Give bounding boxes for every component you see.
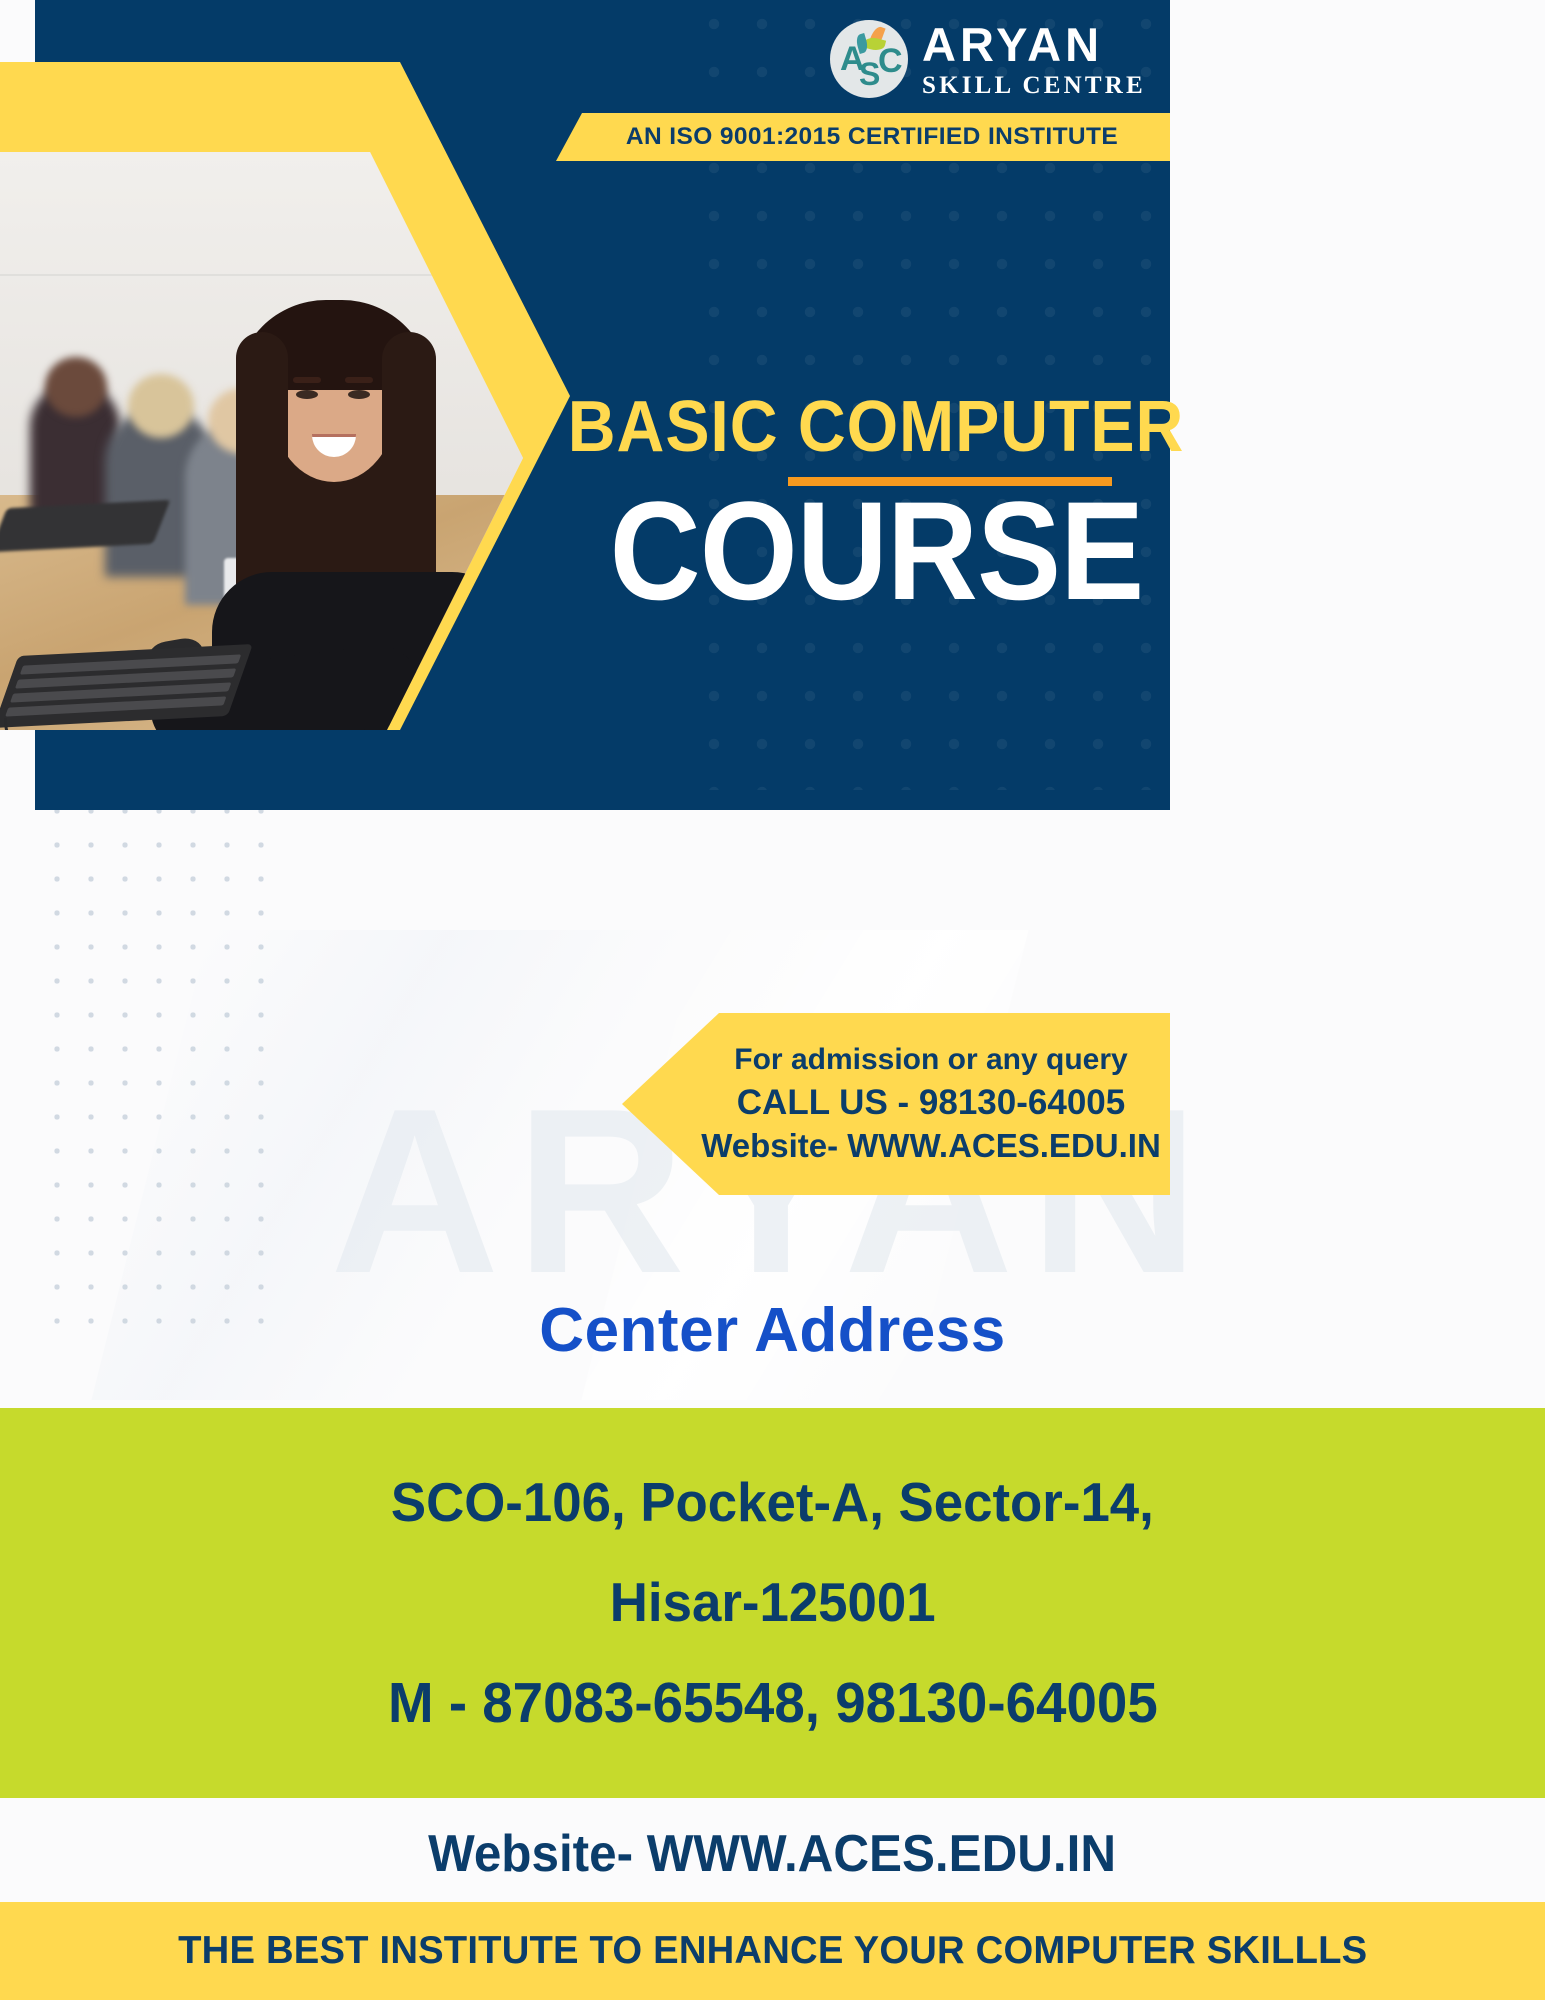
tagline-strip: THE BEST INSTITUTE TO ENHANCE YOUR COMPU… [0,1902,1545,2000]
photo-woman-brow-right [345,377,373,383]
photo-keyboard-front [0,644,253,728]
contact-phone-line[interactable]: CALL US - 98130-64005 [737,1083,1125,1123]
iso-certification-banner: AN ISO 9001:2015 CERTIFIED INSTITUTE [556,113,1170,161]
website-line: Website- WWW.ACES.EDU.IN [0,1806,1545,1902]
address-mobile-line[interactable]: M - 87083-65548, 98130-64005 [388,1670,1158,1736]
photo-woman-eye-left [296,390,318,399]
brand-logo: A S C ARYAN SKILL CENTRE [830,14,1160,104]
center-address-heading: Center Address [0,1285,1545,1375]
course-title-line2: COURSE [616,492,1136,610]
address-line-1: SCO-106, Pocket-A, Sector-14, [391,1470,1154,1534]
contact-callout-box: For admission or any query CALL US - 981… [622,1013,1170,1195]
logo-mark-icon: A S C [830,20,908,98]
course-title-line1-text: BASIC COMPUTER [568,386,1184,468]
course-title-line1: BASIC COMPUTER [616,386,1136,468]
address-band: SCO-106, Pocket-A, Sector-14, Hisar-1250… [0,1408,1545,1798]
photo-woman-brow-left [293,377,321,383]
dot-pattern-left [40,760,280,1340]
photo-person-back-head [45,357,107,417]
photo-wall-line [0,274,523,276]
brand-name-secondary: SKILL CENTRE [922,73,1146,98]
course-title-line2-text: COURSE [609,481,1143,621]
brand-name-primary: ARYAN [922,21,1146,68]
website-line-text[interactable]: Website- WWW.ACES.EDU.IN [429,1824,1117,1884]
brand-wordmark: ARYAN SKILL CENTRE [922,21,1146,98]
contact-website-line[interactable]: Website- WWW.ACES.EDU.IN [701,1127,1161,1165]
iso-banner-text: AN ISO 9001:2015 CERTIFIED INSTITUTE [608,123,1118,151]
address-line-2: Hisar-125001 [610,1570,936,1634]
photo-person-mid-head [128,374,194,438]
photo-woman-eye-right [348,390,370,399]
tagline-text: THE BEST INSTITUTE TO ENHANCE YOUR COMPU… [178,1929,1367,1973]
center-address-heading-text: Center Address [539,1295,1005,1366]
poster-root: ARYAN A S C ARYAN SKILL CENTRE AN ISO 90… [0,0,1545,2000]
contact-line-1: For admission or any query [734,1043,1127,1077]
